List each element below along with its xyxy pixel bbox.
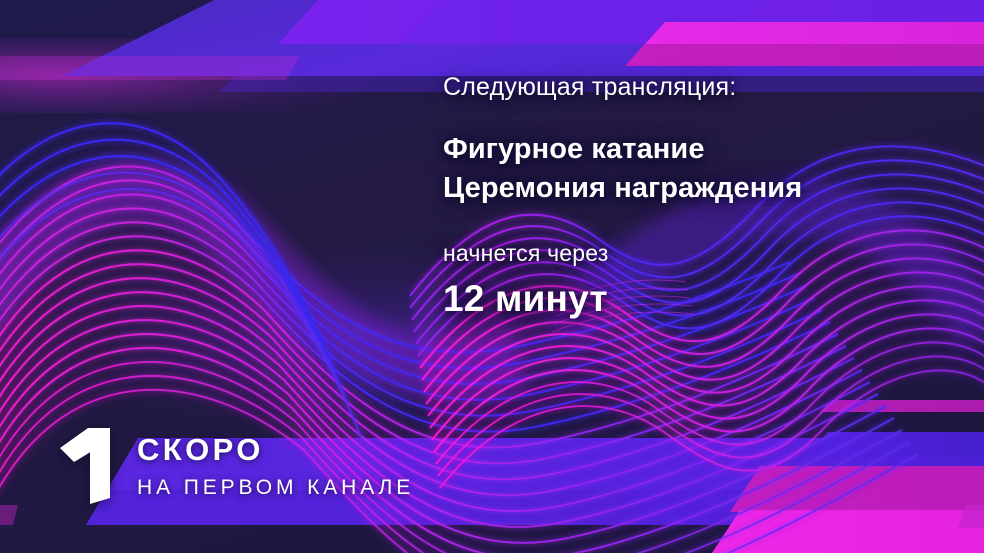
channel-logo-lockup: СКОРО НА ПЕРВОМ КАНАЛЕ xyxy=(54,428,414,504)
logo-channel-text: НА ПЕРВОМ КАНАЛЕ xyxy=(137,477,414,498)
program-title-line2: Церемония награждения xyxy=(443,169,943,207)
broadcast-promo-screen: Следующая трансляция: Фигурное катание Ц… xyxy=(0,0,984,553)
channel-one-numeral-1-icon xyxy=(54,428,118,504)
next-broadcast-label: Следующая трансляция: xyxy=(443,72,943,103)
program-title-line1: Фигурное катание xyxy=(443,130,943,168)
logo-soon-text: СКОРО xyxy=(137,434,414,465)
promo-text-block: Следующая трансляция: Фигурное катание Ц… xyxy=(443,72,943,320)
starts-in-label: начнется через xyxy=(443,240,943,267)
program-title: Фигурное катание Церемония награждения xyxy=(443,130,943,207)
countdown-value: 12 минут xyxy=(443,278,943,320)
logo-wordmark: СКОРО НА ПЕРВОМ КАНАЛЕ xyxy=(137,434,414,498)
